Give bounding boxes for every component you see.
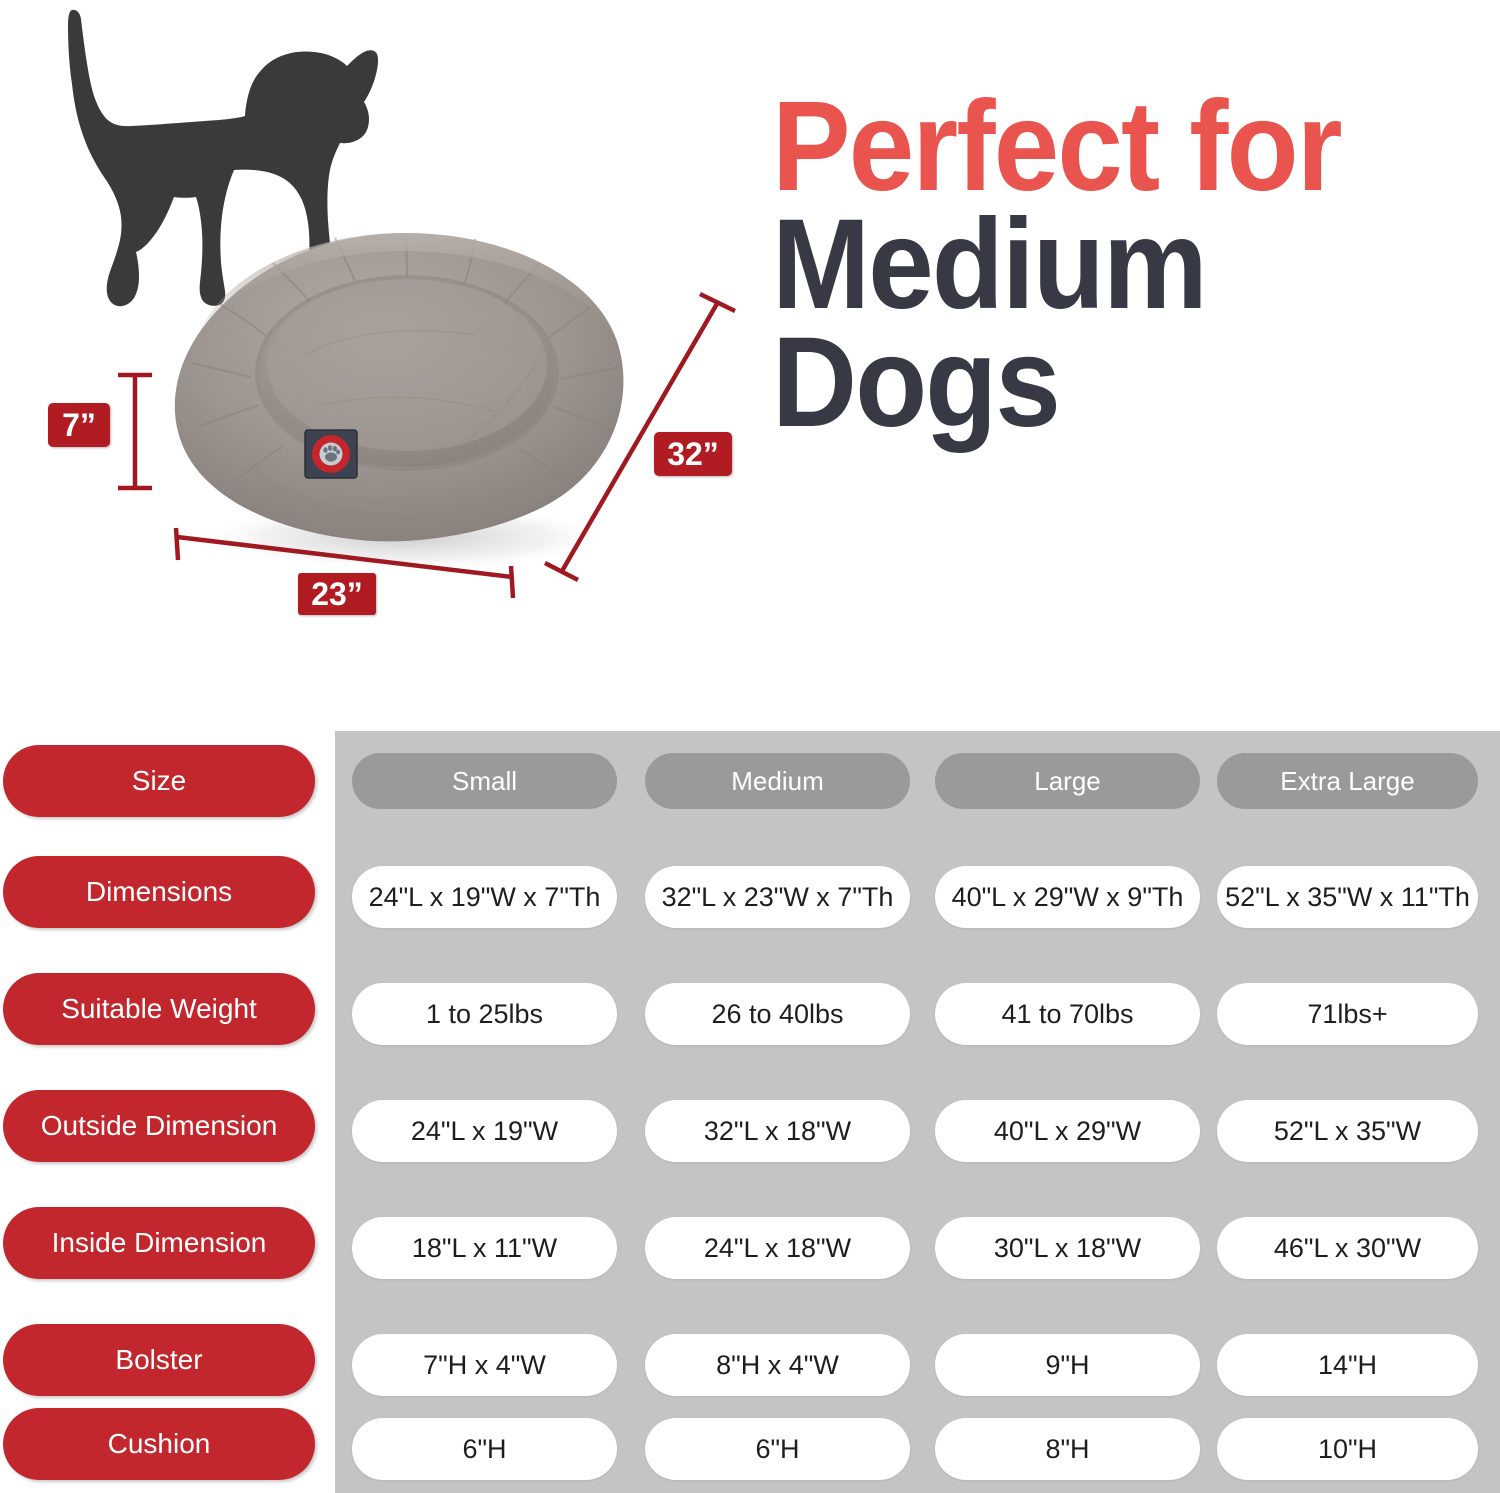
cell-dimensions-medium: 32"L x 23"W x 7"Th [645,866,910,928]
cell-bolster-small: 7"H x 4"W [352,1334,617,1396]
dog-bed-product-image [155,205,655,580]
column-header-small: Small [352,753,617,809]
cell-dimensions-large: 40"L x 29"W x 9"Th [935,866,1200,928]
cell-inside-dimension-small: 18"L x 11"W [352,1217,617,1279]
cell-suitable-weight-extra-large: 71lbs+ [1217,983,1478,1045]
cell-bolster-medium: 8"H x 4"W [645,1334,910,1396]
specification-table: SizeSmallMediumLargeExtra LargeDimension… [0,720,1500,1493]
cell-dimensions-small: 24"L x 19"W x 7"Th [352,866,617,928]
brand-tag [305,430,357,478]
cell-bolster-extra-large: 14"H [1217,1334,1478,1396]
cell-suitable-weight-small: 1 to 25lbs [352,983,617,1045]
infographic-page: Perfect for Medium Dogs 7” 32” 23” SizeS… [0,0,1500,1493]
cell-outside-dimension-large: 40"L x 29"W [935,1100,1200,1162]
row-label-dimensions: Dimensions [3,856,315,928]
headline-block: Perfect for Medium Dogs [772,88,1492,441]
cell-suitable-weight-medium: 26 to 40lbs [645,983,910,1045]
cell-inside-dimension-large: 30"L x 18"W [935,1217,1200,1279]
row-label-inside-dimension: Inside Dimension [3,1207,315,1279]
dimension-callout-width: 23” [298,573,376,615]
column-header-extra-large: Extra Large [1217,753,1478,809]
row-label-suitable-weight: Suitable Weight [3,973,315,1045]
headline-line-2: Medium [772,206,1434,324]
row-label-size: Size [3,745,315,817]
cell-outside-dimension-extra-large: 52"L x 35"W [1217,1100,1478,1162]
dimension-callout-length: 32” [654,432,732,476]
hero-section: Perfect for Medium Dogs 7” 32” 23” [0,0,1500,720]
cell-outside-dimension-medium: 32"L x 18"W [645,1100,910,1162]
headline-line-1: Perfect for [772,88,1434,206]
cell-suitable-weight-large: 41 to 70lbs [935,983,1200,1045]
cell-cushion-large: 8"H [935,1418,1200,1480]
dimension-callout-height: 7” [48,403,110,447]
cell-outside-dimension-small: 24"L x 19"W [352,1100,617,1162]
cell-cushion-medium: 6"H [645,1418,910,1480]
headline-line-3: Dogs [772,324,1434,442]
row-label-cushion: Cushion [3,1408,315,1480]
table-rows-container: SizeSmallMediumLargeExtra LargeDimension… [0,720,1500,1493]
cell-cushion-small: 6"H [352,1418,617,1480]
cell-dimensions-extra-large: 52"L x 35"W x 11"Th [1217,866,1478,928]
row-label-outside-dimension: Outside Dimension [3,1090,315,1162]
cell-bolster-large: 9"H [935,1334,1200,1396]
column-header-medium: Medium [645,753,910,809]
cell-cushion-extra-large: 10"H [1217,1418,1478,1480]
row-label-bolster: Bolster [3,1324,315,1396]
column-header-large: Large [935,753,1200,809]
cell-inside-dimension-extra-large: 46"L x 30"W [1217,1217,1478,1279]
cell-inside-dimension-medium: 24"L x 18"W [645,1217,910,1279]
